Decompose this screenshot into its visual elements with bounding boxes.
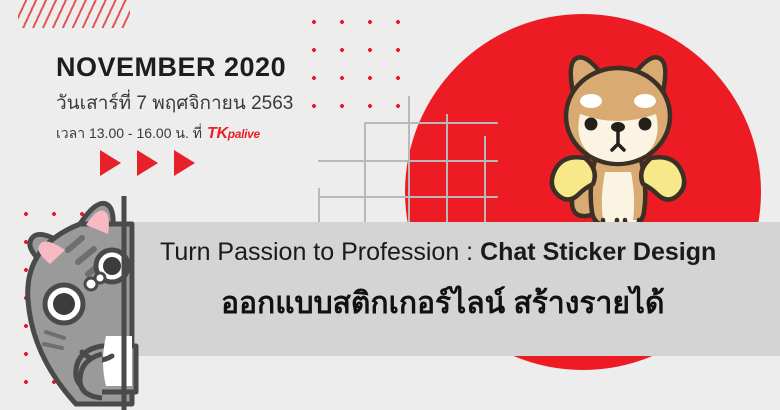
arrow-group [100, 150, 195, 176]
logo-main-text: TK [207, 125, 228, 142]
tk-park-alive-logo: TKpalive [207, 125, 260, 143]
diagonal-stripes-decor [18, 0, 130, 28]
time-line: เวลา 13.00 - 16.00 น. ที่ TKpalive [56, 123, 356, 145]
play-arrow-icon [100, 150, 121, 176]
band-title: Turn Passion to Profession : Chat Sticke… [160, 238, 716, 267]
thai-date-line: วันเสาร์ที่ 7 พฤศจิกายน 2563 [56, 88, 356, 118]
band-title-bold: Chat Sticker Design [480, 238, 716, 266]
event-promo-banner: Turn Passion to Profession : Chat Sticke… [0, 0, 780, 410]
shiba-dog-illustration [533, 48, 703, 238]
time-text: เวลา 13.00 - 16.00 น. ที่ [56, 123, 202, 145]
month-year-heading: NOVEMBER 2020 [56, 52, 356, 82]
band-title-regular: Turn Passion to Profession : [160, 238, 480, 266]
logo-sub-text: palive [228, 127, 260, 141]
cat-illustration [0, 196, 149, 410]
header-text-block: NOVEMBER 2020 วันเสาร์ที่ 7 พฤศจิกายน 25… [56, 52, 356, 145]
band-subtitle-thai: ออกแบบสติกเกอร์ไลน์ สร้างรายได้ [221, 280, 664, 327]
title-band: Turn Passion to Profession : Chat Sticke… [135, 222, 780, 356]
play-arrow-icon [174, 150, 195, 176]
play-arrow-icon [137, 150, 158, 176]
